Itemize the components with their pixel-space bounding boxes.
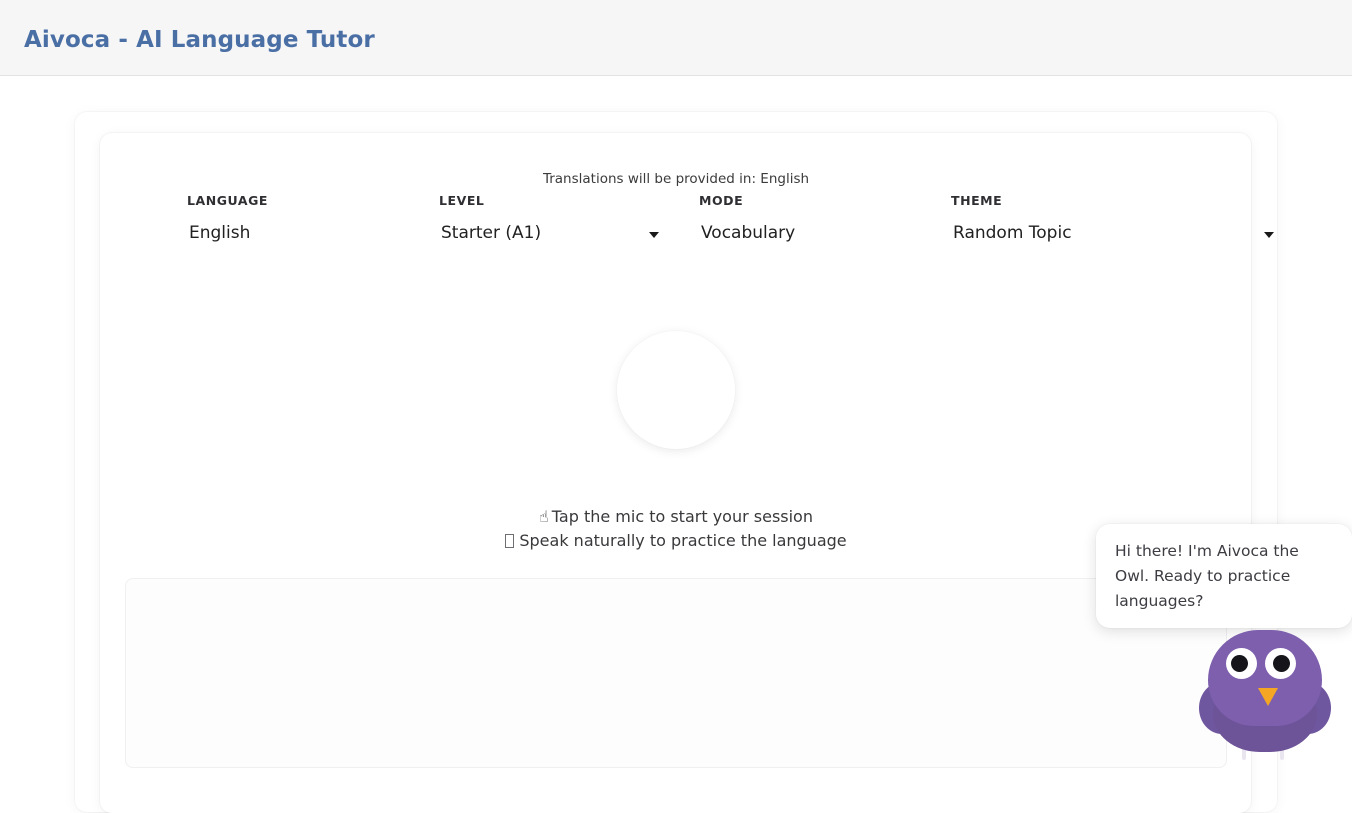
owl-eye-right bbox=[1265, 648, 1296, 679]
owl-beak bbox=[1258, 688, 1278, 706]
mic-button[interactable] bbox=[617, 331, 735, 449]
label-theme: THEME bbox=[941, 193, 1201, 208]
assistant-widget[interactable]: Hi there! I'm Aivoca the Owl. Ready to p… bbox=[1096, 524, 1352, 760]
select-language[interactable]: English bbox=[187, 219, 467, 253]
label-level: LEVEL bbox=[439, 193, 699, 208]
speaking-head-icon bbox=[505, 534, 514, 548]
select-theme[interactable]: Random Topic bbox=[941, 219, 1201, 253]
owl-eye-left bbox=[1226, 648, 1257, 679]
assistant-speech-text: Hi there! I'm Aivoca the Owl. Ready to p… bbox=[1115, 539, 1331, 614]
chevron-down-icon bbox=[1264, 232, 1274, 238]
select-mode[interactable]: Vocabulary bbox=[691, 219, 941, 253]
app-header: Aivoca - AI Language Tutor bbox=[0, 0, 1352, 76]
control-group-language: LANGUAGE English bbox=[187, 193, 467, 253]
owl-pupil-left bbox=[1231, 655, 1248, 672]
page-title: Aivoca - AI Language Tutor bbox=[24, 27, 375, 53]
hint-text-speak-naturally: Speak naturally to practice the language bbox=[519, 531, 846, 550]
pointing-up-hand-icon: ☝ bbox=[539, 505, 549, 529]
select-language-value: English bbox=[189, 223, 250, 243]
select-level-value: Starter (A1) bbox=[441, 223, 541, 243]
microphone-icon bbox=[617, 331, 735, 449]
label-mode: MODE bbox=[691, 193, 941, 208]
control-group-mode: MODE Vocabulary bbox=[691, 193, 941, 253]
assistant-speech-bubble: Hi there! I'm Aivoca the Owl. Ready to p… bbox=[1096, 524, 1352, 628]
owl-pupil-right bbox=[1273, 655, 1290, 672]
owl-mascot-icon[interactable] bbox=[1201, 630, 1329, 760]
select-theme-value: Random Topic bbox=[953, 223, 1072, 243]
control-group-level: LEVEL Starter (A1) bbox=[439, 193, 699, 253]
select-mode-value: Vocabulary bbox=[701, 223, 795, 243]
hint-text-tap-mic: Tap the mic to start your session bbox=[552, 507, 813, 526]
transcript-panel[interactable] bbox=[125, 578, 1227, 768]
control-group-theme: THEME Random Topic bbox=[941, 193, 1201, 253]
translation-note: Translations will be provided in: Englis… bbox=[0, 171, 1352, 187]
chevron-down-icon bbox=[649, 232, 659, 238]
select-level[interactable]: Starter (A1) bbox=[439, 219, 699, 253]
session-controls: LANGUAGE English LEVEL Starter (A1) MODE… bbox=[125, 193, 1225, 265]
label-language: LANGUAGE bbox=[187, 193, 467, 208]
owl-head bbox=[1208, 630, 1322, 726]
